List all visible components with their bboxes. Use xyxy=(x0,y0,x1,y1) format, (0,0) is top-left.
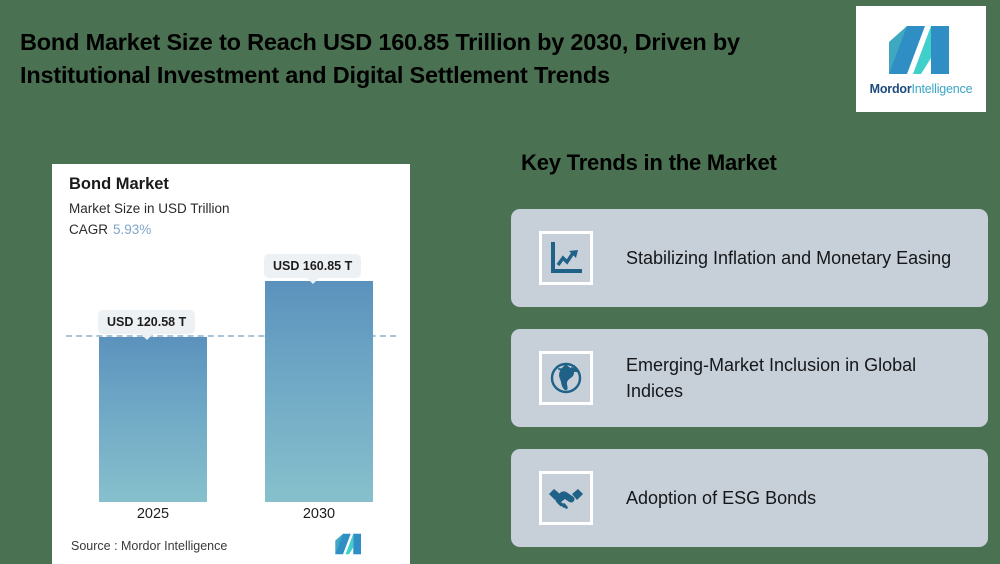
page-title: Bond Market Size to Reach USD 160.85 Tri… xyxy=(20,26,840,93)
bar-2025 xyxy=(99,337,207,502)
chart-source: Source : Mordor Intelligence xyxy=(71,539,227,553)
trend-card-emerging-market-inclusion[interactable]: Emerging-Market Inclusion in Global Indi… xyxy=(511,329,988,427)
bar-2030 xyxy=(265,281,373,502)
brand-name-light: Intelligence xyxy=(912,82,973,96)
bar-value-text: USD 120.58 T xyxy=(107,315,186,329)
trend-label: Stabilizing Inflation and Monetary Easin… xyxy=(626,245,951,271)
trend-card-stabilizing-inflation[interactable]: Stabilizing Inflation and Monetary Easin… xyxy=(511,209,988,307)
header: Bond Market Size to Reach USD 160.85 Tri… xyxy=(0,0,1000,126)
brand-logo-text: MordorIntelligence xyxy=(870,82,973,96)
chart-card: Bond Market Market Size in USD Trillion … xyxy=(52,164,410,564)
label-pointer xyxy=(140,333,154,340)
handshake-icon xyxy=(539,471,593,525)
x-axis-label-2025: 2025 xyxy=(99,506,207,522)
bar-value-text: USD 160.85 T xyxy=(273,259,352,273)
mordor-logo-icon xyxy=(885,22,957,78)
trends-section-title: Key Trends in the Market xyxy=(521,150,777,176)
mordor-logo-small-icon xyxy=(332,532,366,556)
brand-name-bold: Mordor xyxy=(870,82,912,96)
trend-label: Adoption of ESG Bonds xyxy=(626,485,816,511)
trend-label: Emerging-Market Inclusion in Global Indi… xyxy=(626,352,970,404)
brand-logo: MordorIntelligence xyxy=(856,6,986,112)
bar-value-label-2025: USD 120.58 T xyxy=(98,310,195,334)
bar-value-label-2030: USD 160.85 T xyxy=(264,254,361,278)
bar-chart-plot: USD 120.58 T USD 160.85 T 2025 2030 xyxy=(52,164,410,564)
x-axis-label-2030: 2030 xyxy=(265,506,373,522)
label-pointer xyxy=(306,277,320,284)
globe-icon xyxy=(539,351,593,405)
trend-card-esg-bonds[interactable]: Adoption of ESG Bonds xyxy=(511,449,988,547)
line-chart-growth-icon xyxy=(539,231,593,285)
